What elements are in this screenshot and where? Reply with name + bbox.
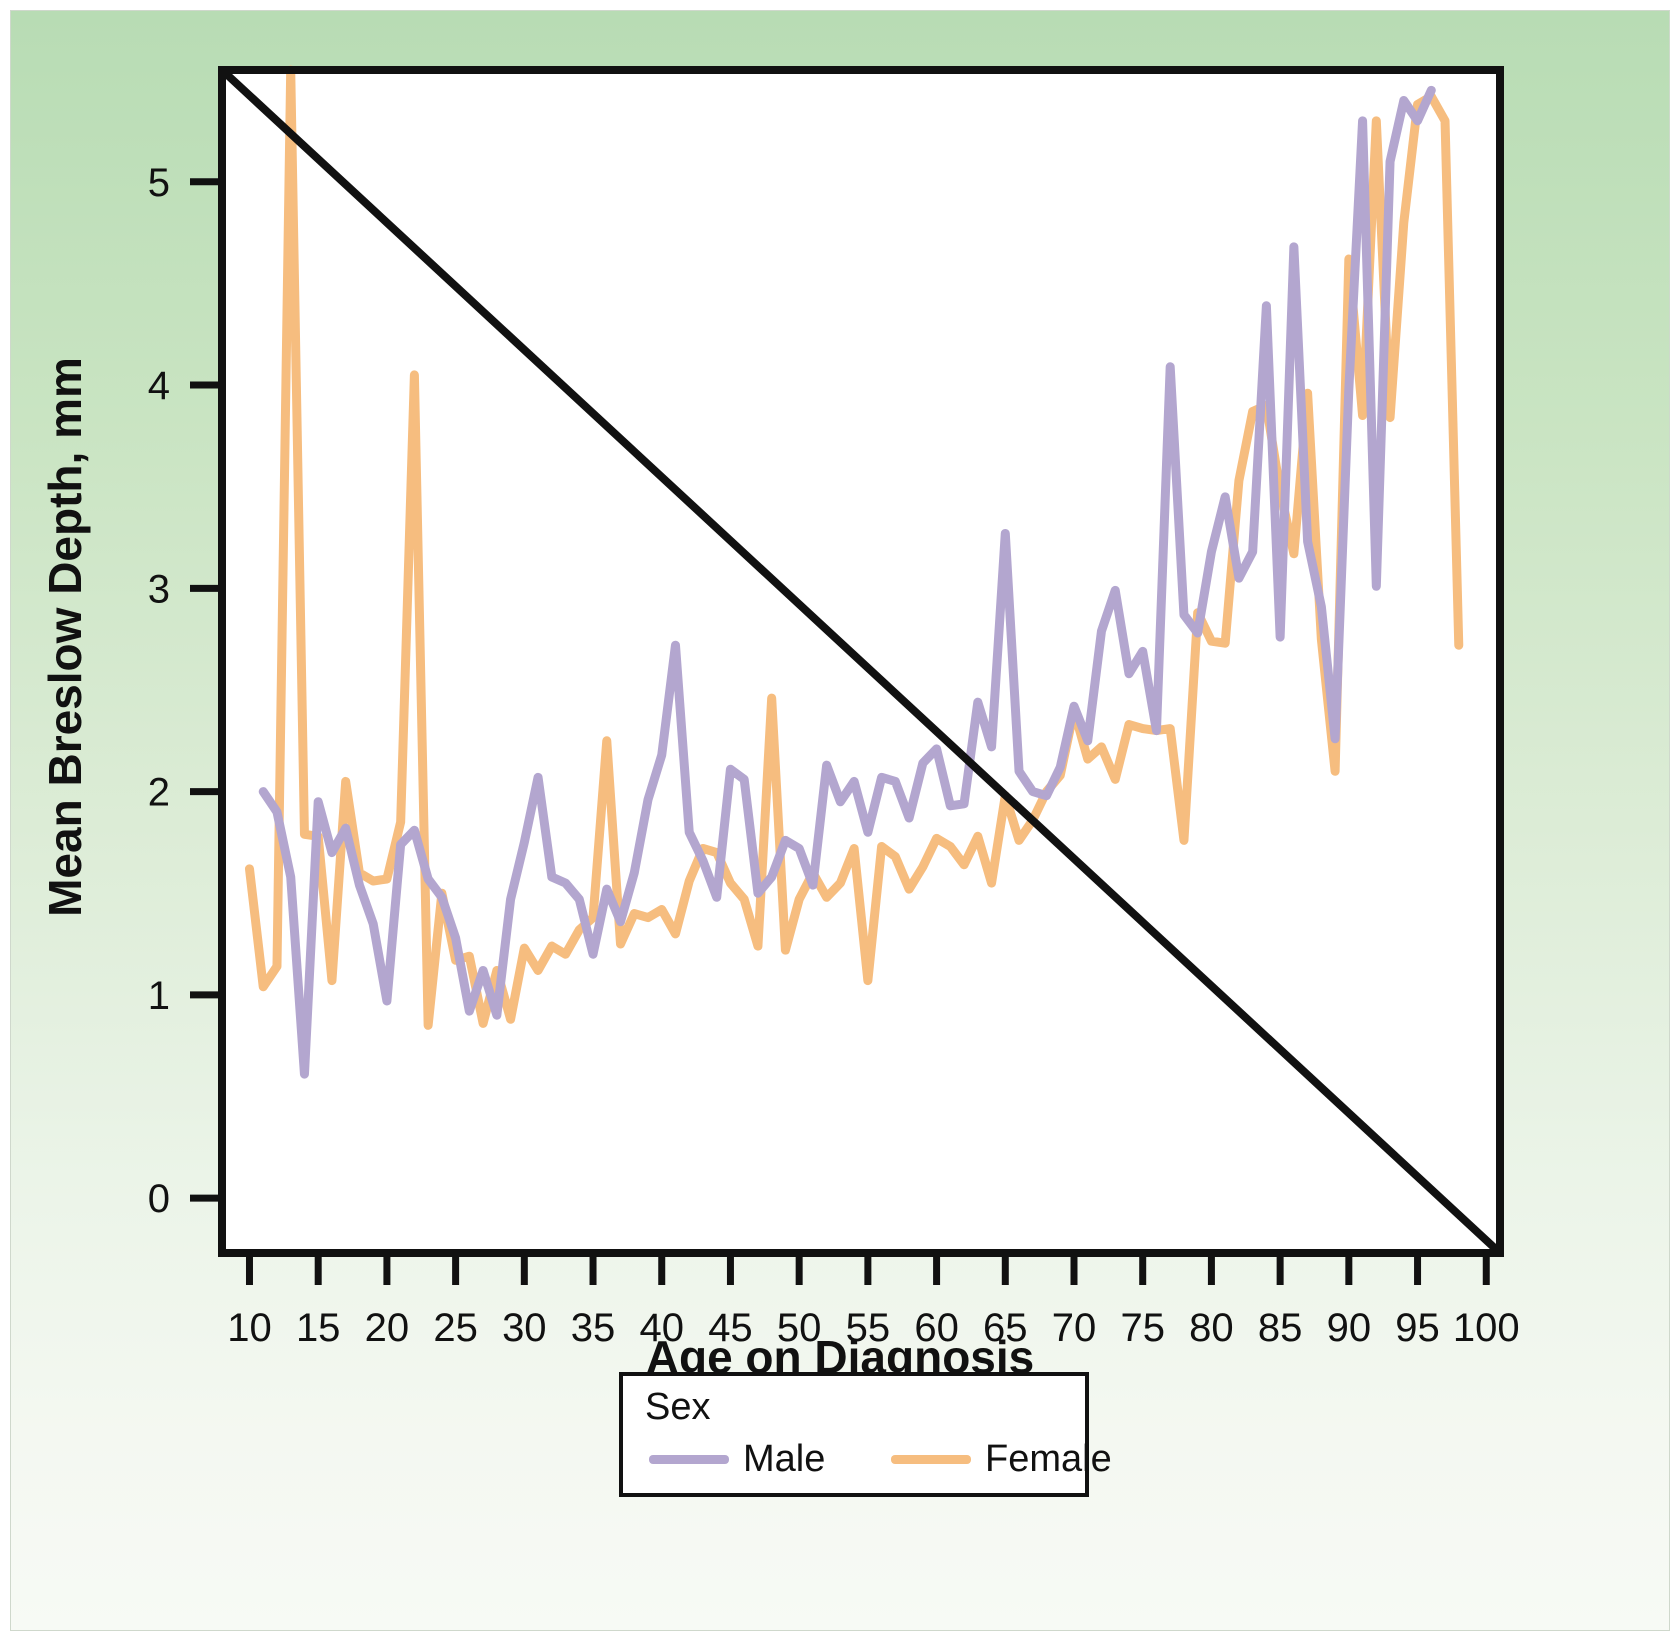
legend-label-female: Female [985, 1438, 1112, 1481]
figure-container: 101520253035404550556065707580859095100 … [0, 0, 1680, 1641]
x-tick-marks [249, 1253, 1486, 1285]
legend-title: Sex [645, 1386, 710, 1429]
y-tick-label: 5 [148, 161, 170, 205]
y-tick-marks [190, 182, 222, 1198]
y-tick-label: 0 [148, 1177, 170, 1221]
y-tick-labels: 012345 [148, 161, 170, 1221]
y-tick-label: 1 [148, 974, 170, 1018]
legend-label-male: Male [743, 1438, 825, 1481]
y-axis-title: Mean Breslow Depth, mm [38, 257, 92, 1017]
y-tick-label: 4 [148, 364, 170, 408]
plot-wrapper: 101520253035404550556065707580859095100 … [0, 0, 1680, 1641]
legend-swatch-male-icon [649, 1455, 729, 1464]
legend-entry-male[interactable]: Male [649, 1438, 825, 1481]
y-tick-label: 3 [148, 567, 170, 611]
legend-entry-female[interactable]: Female [891, 1438, 1112, 1481]
y-tick-label: 2 [148, 771, 170, 815]
legend-swatch-female-icon [891, 1455, 971, 1464]
legend-box: Sex Male Female [619, 1372, 1089, 1497]
